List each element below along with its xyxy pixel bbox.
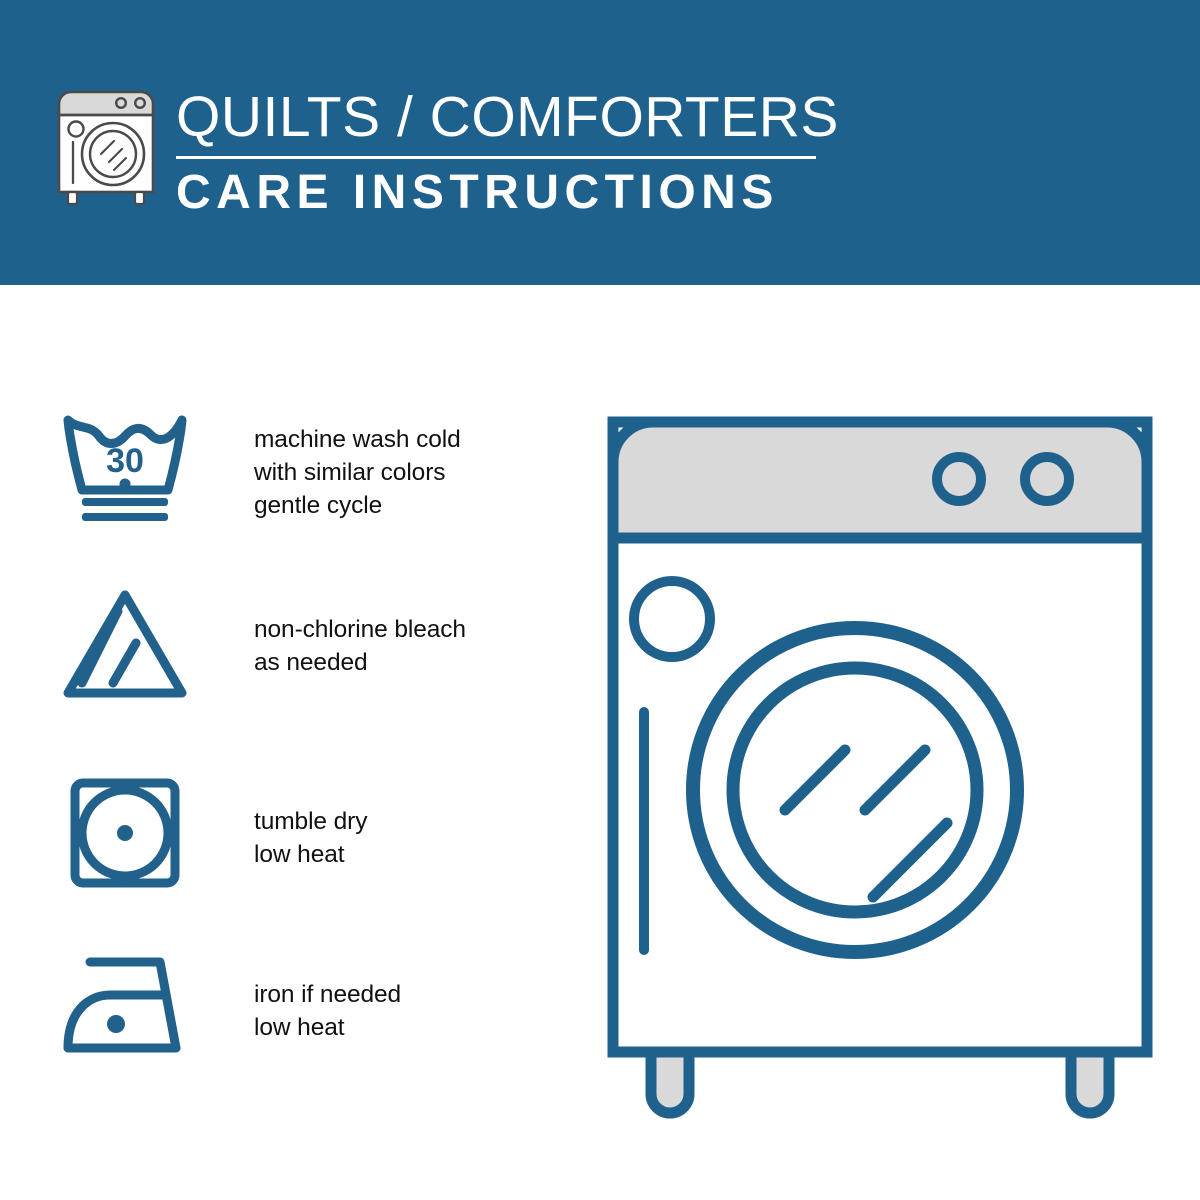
care-instructions-page: QUILTS / COMFORTERS CARE INSTRUCTIONS 30 <box>0 0 1200 1200</box>
caption-line: iron if needed <box>254 978 401 1011</box>
care-symbol-list: 30 machine wash cold with similar colors… <box>0 285 560 1200</box>
knob-icon <box>1025 457 1069 501</box>
page-header: QUILTS / COMFORTERS CARE INSTRUCTIONS <box>0 0 1200 285</box>
dial-icon <box>634 581 710 657</box>
page-subtitle: CARE INSTRUCTIONS <box>176 165 836 221</box>
washing-machine-illustration <box>595 400 1165 1120</box>
wash-temperature-label: 30 <box>106 442 144 480</box>
caption-line: machine wash cold <box>254 423 461 456</box>
care-caption-wash: machine wash cold with similar colors ge… <box>254 423 461 522</box>
washing-machine-icon <box>52 82 160 206</box>
caption-line: tumble dry <box>254 805 367 838</box>
caption-line: low heat <box>254 838 367 871</box>
header-text-block: QUILTS / COMFORTERS CARE INSTRUCTIONS <box>176 86 836 221</box>
iron-icon <box>60 950 190 1070</box>
caption-line: with similar colors <box>254 456 461 489</box>
care-caption-iron: iron if needed low heat <box>254 978 401 1044</box>
machine-leg <box>651 1052 689 1113</box>
bleach-triangle-icon <box>60 585 190 705</box>
caption-line: gentle cycle <box>254 489 461 522</box>
title-divider <box>176 156 816 159</box>
caption-line: as needed <box>254 646 466 679</box>
wash-tub-icon: 30 <box>60 410 190 530</box>
caption-line: low heat <box>254 1011 401 1044</box>
caption-line: non-chlorine bleach <box>254 613 466 646</box>
care-caption-bleach: non-chlorine bleach as needed <box>254 613 466 679</box>
machine-leg <box>1071 1052 1109 1113</box>
knob-icon <box>937 457 981 501</box>
page-title: QUILTS / COMFORTERS <box>176 86 836 148</box>
tumble-dry-square-icon <box>60 775 190 895</box>
care-caption-tumble-dry: tumble dry low heat <box>254 805 367 871</box>
